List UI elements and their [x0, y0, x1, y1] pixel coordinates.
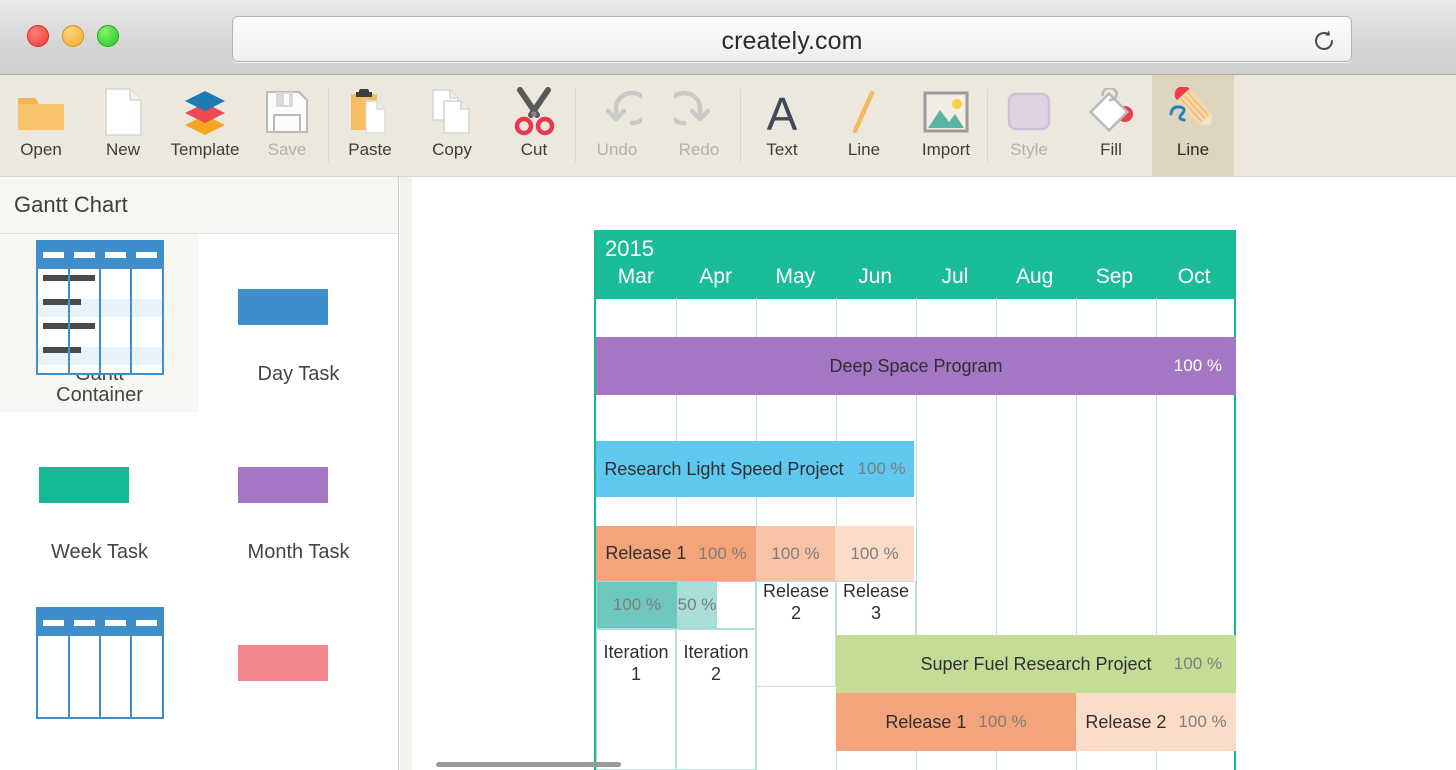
shape-item-day-task-label: Day Task	[258, 364, 340, 385]
gantt-bar-super-fuel-research-project[interactable]: Super Fuel Research Project 100 %	[836, 635, 1236, 693]
canvas-left-strip	[400, 177, 412, 770]
undo-button-label: Undo	[597, 140, 638, 160]
gantt-bar-percent: 100 %	[1174, 654, 1222, 674]
gantt-label-text: Release 2	[756, 580, 836, 625]
new-button-label: New	[106, 140, 140, 160]
style-button-label: Style	[1010, 140, 1048, 160]
open-button-label: Open	[20, 140, 62, 160]
template-button-label: Template	[171, 140, 240, 160]
gantt-bar-label: Research Light Speed Project	[604, 459, 843, 480]
shape-item-month-task[interactable]: Month Task	[199, 412, 398, 590]
paste-button[interactable]: Paste	[329, 75, 411, 176]
gantt-bar-percent: 100 %	[1174, 356, 1222, 376]
redo-button[interactable]: Redo	[658, 75, 740, 176]
gantt-segment-percent: 100 %	[613, 595, 661, 615]
address-bar-url: creately.com	[233, 27, 1351, 56]
gantt-label-text: Release 3	[836, 580, 916, 625]
gantt-segment-percent: 100 %	[698, 544, 746, 564]
shape-item-day-task[interactable]: Day Task	[199, 234, 398, 412]
gantt-segment-iteration-empty[interactable]	[717, 582, 755, 628]
minimize-window-button[interactable]	[62, 25, 84, 47]
gantt-segment-percent: 100 %	[1178, 712, 1226, 732]
undo-arrow-icon	[592, 85, 642, 139]
gantt-month-mar: Mar	[596, 265, 676, 289]
line-tool-button-label: Line	[848, 140, 880, 160]
gantt-bar-label: Deep Space Program	[829, 356, 1002, 377]
redo-button-label: Redo	[679, 140, 720, 160]
gantt-segment-sf-release-1[interactable]: Release 1 100 %	[836, 693, 1076, 751]
gantt-bar-iteration-progress[interactable]: 100 % 50 %	[596, 581, 756, 629]
shape-item-week-task[interactable]: Week Task	[0, 412, 199, 590]
toolbar-group-clipboard: Paste Copy Cut	[329, 75, 575, 176]
rounded-rect-icon	[1005, 85, 1053, 139]
zoom-window-button[interactable]	[97, 25, 119, 47]
gantt-segment-label: Release 1	[605, 543, 686, 564]
app-toolbar: Open New Template	[0, 75, 1456, 177]
gantt-bar-percent: 100 %	[857, 459, 905, 479]
address-bar[interactable]: creately.com	[232, 16, 1352, 62]
clipboard-icon	[345, 85, 395, 139]
gantt-segment-iteration-1[interactable]: 100 %	[597, 582, 677, 628]
save-button[interactable]: Save	[246, 75, 328, 176]
undo-button[interactable]: Undo	[576, 75, 658, 176]
toolbar-group-format: Style Fill	[988, 75, 1234, 176]
month-task-icon	[238, 430, 360, 540]
gantt-month-jun: Jun	[835, 265, 915, 289]
gantt-bar-super-fuel-releases[interactable]: Release 1 100 % Release 2 100 %	[836, 693, 1236, 751]
copy-button-label: Copy	[432, 140, 472, 160]
paint-bucket-icon	[1085, 85, 1137, 139]
day-task-icon	[238, 252, 360, 362]
import-button[interactable]: Import	[905, 75, 987, 176]
gantt-segment-percent: 100 %	[978, 712, 1026, 732]
gantt-segment-release-1[interactable]: Release 1 100 %	[596, 526, 756, 581]
gantt-month-aug: Aug	[995, 265, 1075, 289]
close-window-button[interactable]	[27, 25, 49, 47]
page-icon	[101, 85, 145, 139]
folder-icon	[16, 85, 66, 139]
shape-item-week-task-label: Week Task	[51, 542, 148, 563]
cut-button[interactable]: Cut	[493, 75, 575, 176]
gantt-label-iteration-2: Iteration2	[676, 638, 756, 688]
gantt-bar-research-light-speed-project[interactable]: Research Light Speed Project 100 %	[596, 441, 914, 497]
gantt-header: 2015 Mar Apr May Jun Jul Aug Sep Oct	[596, 230, 1234, 299]
gantt-segment-sf-release-2[interactable]: Release 2 100 %	[1076, 693, 1236, 751]
svg-text:A: A	[767, 88, 798, 136]
pencil-icon	[1165, 85, 1221, 139]
floppy-disk-icon	[264, 85, 310, 139]
toolbar-group-file: Open New Template	[0, 75, 328, 176]
sidebar-title: Gantt Chart	[14, 192, 128, 218]
gantt-segment-percent: 50 %	[678, 595, 717, 615]
gantt-segment-release-3[interactable]: 100 %	[835, 526, 914, 581]
style-button[interactable]: Style	[988, 75, 1070, 176]
template-button[interactable]: Template	[164, 75, 246, 176]
browser-chrome: creately.com	[0, 0, 1456, 75]
gantt-bar-deep-space-program[interactable]: Deep Space Program 100 %	[596, 337, 1236, 395]
gantt-chart[interactable]: 2015 Mar Apr May Jun Jul Aug Sep Oct	[594, 230, 1236, 770]
gantt-segment-release-2[interactable]: 100 %	[756, 526, 835, 581]
shape-palette: GanttContainer Day Task Week Task	[0, 234, 398, 768]
gantt-segment-iteration-2[interactable]: 50 %	[677, 582, 717, 628]
gantt-month-sep: Sep	[1075, 265, 1155, 289]
canvas-horizontal-scrollbar[interactable]	[436, 762, 621, 767]
copy-button[interactable]: Copy	[411, 75, 493, 176]
text-button-label: Text	[766, 140, 797, 160]
gantt-label-iteration-1: Iteration1	[596, 638, 676, 688]
fill-button-label: Fill	[1100, 140, 1122, 160]
toolbar-group-history: Undo Redo	[576, 75, 740, 176]
gantt-month-may: May	[756, 265, 836, 289]
line-style-button[interactable]: Line	[1152, 75, 1234, 176]
shape-item-table[interactable]	[0, 590, 199, 768]
redo-arrow-icon	[674, 85, 724, 139]
import-button-label: Import	[922, 140, 970, 160]
copy-icon	[427, 85, 477, 139]
shapes-sidebar: Gantt Chart Ga	[0, 177, 399, 770]
cut-button-label: Cut	[521, 140, 547, 160]
gantt-segment-label: Release 2	[1085, 712, 1166, 733]
gantt-segment-percent: 100 %	[771, 544, 819, 564]
gantt-year-label: 2015	[596, 230, 1234, 265]
reload-icon[interactable]	[1309, 26, 1339, 56]
gantt-label-release-3: Release 3	[836, 588, 916, 616]
gantt-month-apr: Apr	[676, 265, 756, 289]
toolbar-group-insert: A Text Line Import	[741, 75, 987, 176]
layers-icon	[177, 85, 233, 139]
gantt-bar-label: Super Fuel Research Project	[920, 654, 1151, 675]
milestone-task-icon	[238, 608, 360, 718]
gantt-segment-label: Release 1	[885, 712, 966, 733]
scissors-icon	[509, 85, 559, 139]
new-button[interactable]: New	[82, 75, 164, 176]
week-task-icon	[39, 430, 161, 540]
shape-item-month-task-label: Month Task	[248, 542, 350, 563]
gantt-month-row: Mar Apr May Jun Jul Aug Sep Oct	[596, 265, 1234, 299]
gantt-container-icon	[36, 252, 164, 362]
gantt-bar-release-1-group[interactable]: Release 1 100 % 100 % 100 %	[596, 526, 914, 581]
table-icon	[36, 608, 164, 718]
gantt-label-text: Iteration2	[683, 641, 748, 686]
sidebar-header: Gantt Chart	[0, 177, 398, 234]
gantt-segment-percent: 100 %	[850, 544, 898, 564]
gantt-month-oct: Oct	[1154, 265, 1234, 289]
text-a-icon: A	[759, 85, 805, 139]
open-button[interactable]: Open	[0, 75, 82, 176]
shape-item-milestone-task[interactable]	[199, 590, 398, 768]
shape-item-gantt-container[interactable]: GanttContainer	[0, 234, 199, 412]
text-button[interactable]: A Text	[741, 75, 823, 176]
gantt-month-jul: Jul	[915, 265, 995, 289]
image-icon	[921, 85, 971, 139]
diagram-canvas[interactable]: 2015 Mar Apr May Jun Jul Aug Sep Oct	[400, 177, 1456, 770]
gantt-label-text: Iteration1	[603, 641, 668, 686]
window-traffic-lights	[27, 25, 119, 47]
paste-button-label: Paste	[348, 140, 391, 160]
fill-button[interactable]: Fill	[1070, 75, 1152, 176]
gantt-bars: Deep Space Program 100 % Research Light …	[596, 298, 1234, 770]
diagonal-line-icon	[841, 85, 887, 139]
gantt-label-release-2: Release 2	[756, 588, 836, 616]
line-tool-button[interactable]: Line	[823, 75, 905, 176]
save-button-label: Save	[268, 140, 307, 160]
line-style-button-label: Line	[1177, 140, 1209, 160]
